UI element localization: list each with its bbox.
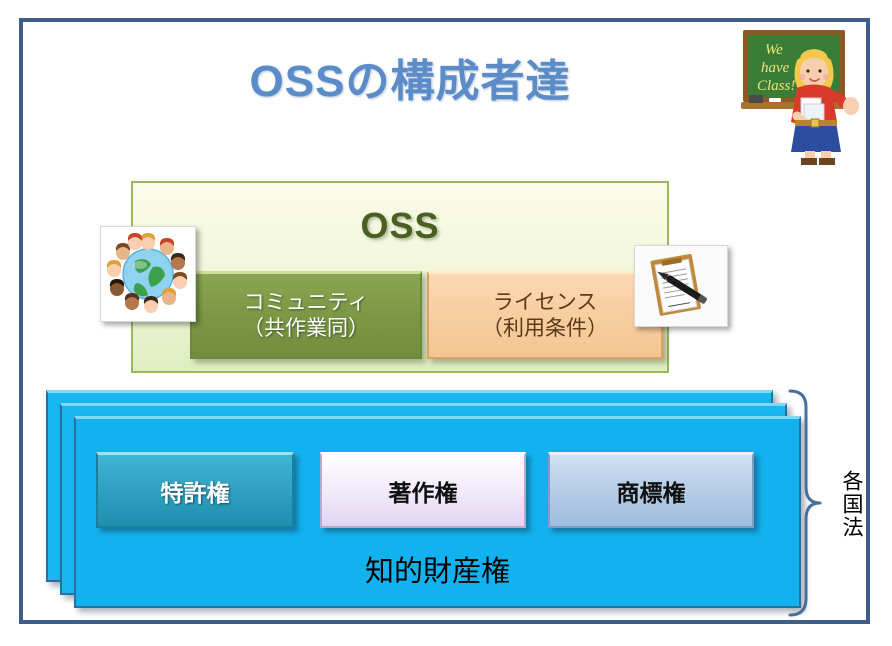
license-label-line1: ライセンス bbox=[493, 290, 598, 315]
license-box[interactable]: ライセンス （利用条件） bbox=[427, 271, 663, 359]
brace-icon bbox=[786, 388, 826, 618]
trademark-label: 商標権 bbox=[617, 474, 686, 508]
page-title: OSSの構成者達 bbox=[150, 58, 670, 106]
globe-children-icon bbox=[100, 226, 196, 322]
copyright-right-box[interactable]: 著作権 bbox=[320, 452, 526, 528]
svg-text:Class!: Class! bbox=[757, 78, 795, 94]
trademark-right-box[interactable]: 商標権 bbox=[548, 452, 754, 528]
contract-pen-icon bbox=[634, 245, 728, 327]
svg-text:We: We bbox=[765, 42, 783, 58]
intellectual-property-label: 知的財産権 bbox=[74, 548, 801, 590]
oss-label: OSS bbox=[133, 205, 667, 247]
slide-canvas: OSSの構成者達 We have Class! bbox=[0, 0, 892, 646]
community-label-line1: コミュニティ bbox=[244, 290, 369, 315]
copyright-label: 著作権 bbox=[389, 474, 458, 508]
kokuho-label: 各国法 bbox=[833, 470, 863, 539]
teacher-chalkboard-icon: We have Class! bbox=[735, 20, 865, 165]
patent-label: 特許権 bbox=[161, 474, 230, 508]
community-box[interactable]: コミュニティ （共作業同） bbox=[190, 271, 422, 359]
patent-right-box[interactable]: 特許権 bbox=[96, 452, 294, 528]
community-label-line2: （共作業同） bbox=[243, 316, 369, 341]
svg-text:have: have bbox=[761, 60, 790, 76]
license-label-line2: （利用条件） bbox=[482, 316, 608, 341]
